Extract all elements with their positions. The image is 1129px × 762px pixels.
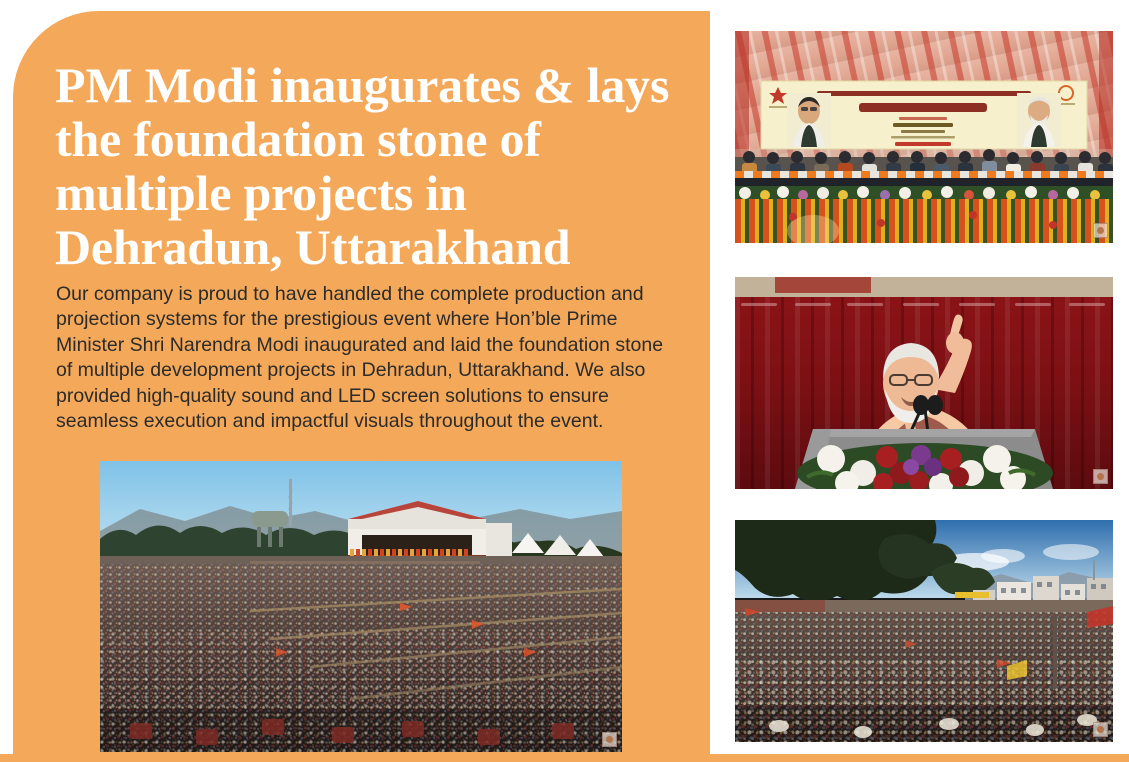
broadcast-watermark-icon <box>1093 722 1108 737</box>
photo-modi-podium-artwork <box>735 277 1113 489</box>
article-body-text: Our company is proud to have handled the… <box>56 282 676 436</box>
photo-crowd-aerial <box>100 461 622 752</box>
photo-crowd-street <box>735 520 1113 742</box>
page-title: PM Modi inaugurates & lays the foundatio… <box>55 58 685 274</box>
photo-stage-banner <box>735 31 1113 243</box>
photo-crowd-street-artwork <box>735 520 1113 742</box>
photo-modi-podium <box>735 277 1113 489</box>
photo-stage-banner-artwork <box>735 31 1113 243</box>
photo-crowd-aerial-artwork <box>100 461 622 752</box>
bottom-accent-bar <box>0 754 1129 762</box>
broadcast-watermark-icon <box>1093 223 1108 238</box>
broadcast-watermark-icon <box>1093 469 1108 484</box>
broadcast-watermark-icon <box>602 732 617 747</box>
